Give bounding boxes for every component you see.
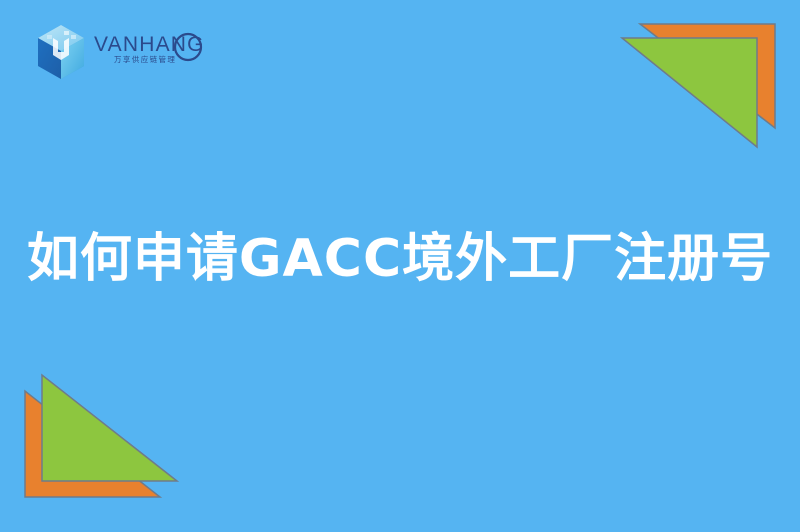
green-triangle-bottom-left [42,375,177,481]
banner-canvas: VANHANG 万享供应链管理 如何申请GACC境外工厂注册号 [0,0,800,532]
orange-triangle-top-right [640,24,775,128]
orange-triangle-bottom-left [25,391,160,497]
brand-logo[interactable]: VANHANG 万享供应链管理 [34,22,204,82]
corner-triangles-bottom-left [0,362,200,532]
cube-logo-icon [34,22,88,82]
corner-triangles-top-right [600,0,800,170]
brand-wordmark: VANHANG 万享供应链管理 [94,29,204,75]
wordmark-label: VANHANG [94,33,204,56]
green-triangle-top-right [622,38,757,147]
wordmark-graphic: VANHANG 万享供应链管理 [94,29,204,75]
brand-tagline: 万享供应链管理 [114,54,176,64]
page-title: 如何申请GACC境外工厂注册号 [0,228,800,290]
